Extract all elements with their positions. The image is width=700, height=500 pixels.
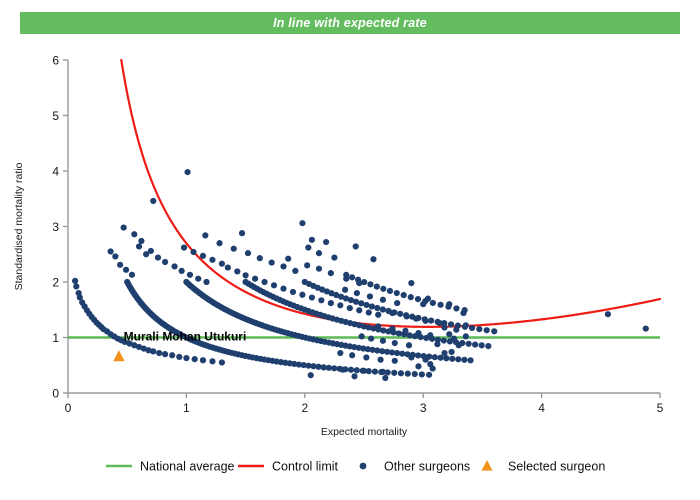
data-point (292, 268, 298, 274)
data-point (453, 305, 459, 311)
legend-dot-swatch (360, 463, 367, 470)
data-point (108, 248, 114, 254)
data-point (441, 324, 447, 330)
x-tick-label: 3 (420, 401, 427, 415)
data-point (406, 342, 412, 348)
data-point (643, 326, 649, 332)
data-point (432, 354, 438, 360)
data-point (354, 367, 360, 373)
data-point (472, 341, 478, 347)
data-point (426, 372, 432, 378)
data-point (252, 276, 258, 282)
data-point (331, 365, 337, 371)
data-point (399, 351, 405, 357)
data-point (184, 169, 190, 175)
data-point (343, 276, 349, 282)
data-point (367, 281, 373, 287)
data-point (162, 259, 168, 265)
data-point (415, 296, 421, 302)
data-point (392, 358, 398, 364)
data-point (437, 302, 443, 308)
data-point (351, 373, 357, 379)
data-point (200, 357, 206, 363)
data-point (375, 323, 381, 329)
data-point (155, 254, 161, 260)
data-point (359, 333, 365, 339)
selected-surgeon-annotation: Murali Mohan Utukuri (124, 330, 247, 344)
data-point (453, 327, 459, 333)
data-point (190, 249, 196, 255)
data-point (441, 350, 447, 356)
y-tick-label: 2 (52, 276, 59, 290)
data-point (328, 300, 334, 306)
data-point (309, 294, 315, 300)
data-point (316, 266, 322, 272)
data-point (202, 232, 208, 238)
data-point (391, 370, 397, 376)
data-point (219, 359, 225, 365)
y-tick-label: 6 (52, 54, 59, 68)
data-point (366, 309, 372, 315)
y-tick-label: 0 (52, 387, 59, 401)
data-point (337, 302, 343, 308)
data-point (181, 244, 187, 250)
data-point (469, 325, 475, 331)
data-point (372, 368, 378, 374)
data-point (299, 220, 305, 226)
axis-layer: 0123456012345Expected mortalityStandardi… (13, 54, 664, 439)
data-point (420, 301, 426, 307)
data-point (156, 350, 162, 356)
data-point (394, 300, 400, 306)
legend-item-national-average[interactable]: National average (106, 460, 235, 474)
data-point (412, 371, 418, 377)
data-point (446, 301, 452, 307)
data-point (392, 340, 398, 346)
data-point (467, 357, 473, 363)
data-point (394, 290, 400, 296)
data-point (405, 371, 411, 377)
data-point (415, 330, 421, 336)
x-tick-label: 0 (65, 401, 72, 415)
data-point (72, 278, 78, 284)
data-point (380, 297, 386, 303)
data-point (143, 251, 149, 257)
data-point (461, 357, 467, 363)
data-point (449, 349, 455, 355)
data-point (428, 318, 434, 324)
data-point (136, 243, 142, 249)
data-point (331, 254, 337, 260)
data-point (150, 348, 156, 354)
data-point (245, 250, 251, 256)
data-point (171, 263, 177, 269)
data-point (413, 316, 419, 322)
data-point (261, 279, 267, 285)
data-point (257, 255, 263, 261)
data-point (348, 367, 354, 373)
data-point (361, 368, 367, 374)
data-point (387, 288, 393, 294)
data-point (455, 356, 461, 362)
data-point (121, 225, 127, 231)
data-point (299, 292, 305, 298)
data-point (231, 246, 237, 252)
data-point (169, 352, 175, 358)
data-point (280, 286, 286, 292)
data-point (369, 303, 375, 309)
funnel-plot-chart: 0123456012345Expected mortalityStandardi… (0, 34, 700, 500)
x-tick-label: 4 (538, 401, 545, 415)
data-point (419, 371, 425, 377)
y-tick-label: 3 (52, 220, 59, 234)
data-point (280, 263, 286, 269)
data-point (380, 338, 386, 344)
legend-item-selected-surgeon[interactable]: Selected surgeon (481, 460, 605, 474)
data-point (318, 297, 324, 303)
data-point (138, 238, 144, 244)
y-axis-title: Standardised mortality ratio (13, 162, 25, 290)
data-point (328, 270, 334, 276)
data-point (408, 354, 414, 360)
data-point (404, 313, 410, 319)
data-point (463, 322, 469, 328)
data-point (396, 330, 402, 336)
data-point (422, 318, 428, 324)
data-point (377, 357, 383, 363)
data-point (460, 310, 466, 316)
data-point (408, 294, 414, 300)
data-point (195, 276, 201, 282)
data-point (304, 262, 310, 268)
data-point (415, 363, 421, 369)
data-point (402, 328, 408, 334)
data-point (425, 296, 431, 302)
legend-item-label: National average (140, 460, 235, 474)
data-point (430, 365, 436, 371)
data-point (415, 352, 421, 358)
data-point (192, 356, 198, 362)
data-point (239, 230, 245, 236)
data-point (176, 354, 182, 360)
data-point (479, 342, 485, 348)
y-tick-label: 1 (52, 331, 59, 345)
data-point-layer (72, 169, 649, 381)
data-point (441, 337, 447, 343)
data-point (408, 280, 414, 286)
data-point (162, 351, 168, 357)
legend-item-label: Other surgeons (384, 460, 470, 474)
data-point (219, 261, 225, 267)
data-point (340, 367, 346, 373)
legend-item-control-limit[interactable]: Control limit (238, 460, 339, 474)
data-point (337, 350, 343, 356)
annotation-layer: Murali Mohan Utukuri (124, 330, 247, 344)
data-point (200, 253, 206, 259)
data-point (271, 282, 277, 288)
data-point (225, 264, 231, 270)
data-point (131, 231, 137, 237)
data-point (308, 372, 314, 378)
data-point (209, 358, 215, 364)
data-point (356, 280, 362, 286)
reference-line-layer (68, 60, 660, 338)
data-point (209, 257, 215, 263)
x-tick-label: 5 (657, 401, 664, 415)
control-limit-curve (121, 60, 660, 327)
data-point (422, 357, 428, 363)
legend-triangle-swatch (481, 460, 492, 471)
data-point (150, 198, 156, 204)
data-point (380, 286, 386, 292)
chart-legend: National averageControl limitOther surge… (106, 460, 605, 474)
data-point (179, 268, 185, 274)
data-point (73, 283, 79, 289)
data-point (129, 272, 135, 278)
data-point (243, 272, 249, 278)
data-point (451, 336, 457, 342)
data-point (234, 268, 240, 274)
data-point (321, 364, 327, 370)
data-point (285, 256, 291, 262)
data-point (123, 267, 129, 273)
data-point (476, 326, 482, 332)
data-point (449, 356, 455, 362)
y-tick-label: 5 (52, 109, 59, 123)
data-point (434, 341, 440, 347)
data-point (354, 290, 360, 296)
data-point (353, 243, 359, 249)
status-banner: In line with expected rate (20, 12, 680, 34)
status-banner-label: In line with expected rate (273, 16, 427, 30)
data-point (401, 292, 407, 298)
data-point (370, 256, 376, 262)
data-point (448, 321, 454, 327)
data-point (323, 239, 329, 245)
data-point (389, 310, 395, 316)
legend-item-label: Control limit (272, 460, 339, 474)
data-point (437, 320, 443, 326)
data-point (117, 262, 123, 268)
data-point (389, 326, 395, 332)
data-point (347, 305, 353, 311)
data-point (605, 311, 611, 317)
data-point (309, 237, 315, 243)
y-tick-label: 4 (52, 165, 59, 179)
data-point (430, 300, 436, 306)
data-point (356, 307, 362, 313)
data-point (374, 305, 380, 311)
data-point (363, 354, 369, 360)
legend-item-other-surgeons[interactable]: Other surgeons (360, 460, 471, 474)
data-point (367, 293, 373, 299)
data-point (358, 300, 364, 306)
data-point (446, 331, 452, 337)
data-point (374, 284, 380, 290)
data-point (316, 250, 322, 256)
data-point (349, 352, 355, 358)
selected-surgeon-marker[interactable] (113, 350, 124, 361)
data-point (342, 287, 348, 293)
data-point (305, 244, 311, 250)
data-point (112, 253, 118, 259)
x-axis-title: Expected mortality (321, 426, 408, 438)
data-point (397, 311, 403, 317)
data-point (485, 343, 491, 349)
data-point (269, 259, 275, 265)
data-point (368, 336, 374, 342)
data-point (363, 302, 369, 308)
data-point (183, 355, 189, 361)
data-point (463, 333, 469, 339)
data-point (466, 341, 472, 347)
data-point (484, 327, 490, 333)
x-tick-label: 2 (301, 401, 308, 415)
data-point (380, 369, 386, 375)
data-point (382, 375, 388, 381)
funnel-plot-svg: 0123456012345Expected mortalityStandardi… (0, 34, 700, 500)
data-point (491, 328, 497, 334)
data-point (398, 370, 404, 376)
x-tick-label: 1 (183, 401, 190, 415)
legend-item-label: Selected surgeon (508, 460, 605, 474)
data-point (380, 306, 386, 312)
data-point (456, 342, 462, 348)
data-point (290, 289, 296, 295)
data-point (427, 332, 433, 338)
data-point (187, 272, 193, 278)
data-point (203, 279, 209, 285)
data-point (216, 240, 222, 246)
data-point (349, 274, 355, 280)
data-point (375, 312, 381, 318)
